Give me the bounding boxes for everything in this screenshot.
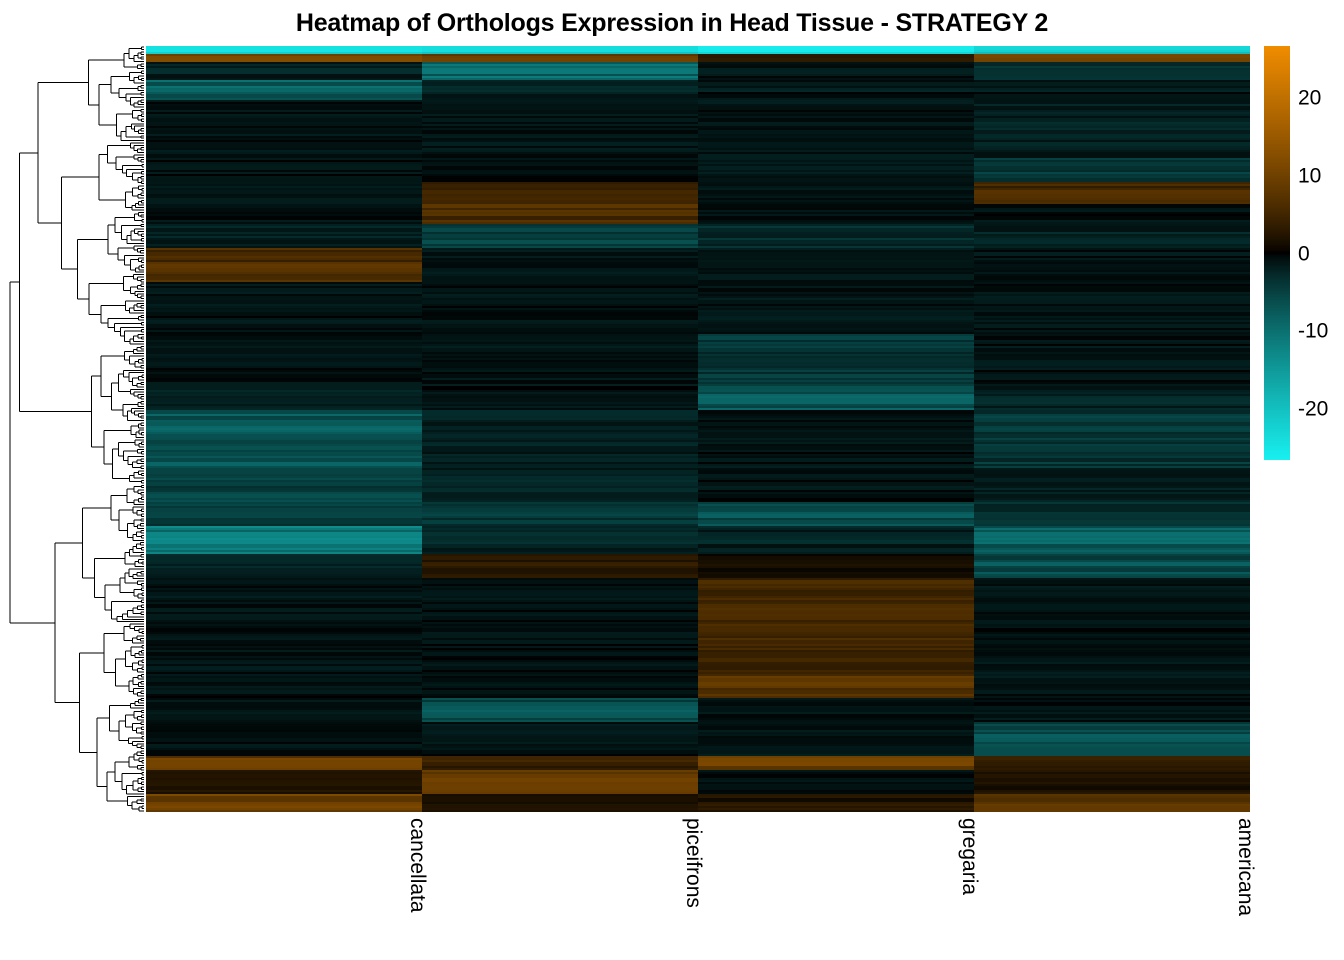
column-label-piceifrons: piceifrons xyxy=(683,818,704,908)
colorbar-tick-0: 0 xyxy=(1298,244,1310,265)
colorbar-tick-20: 20 xyxy=(1298,88,1321,109)
column-labels: cancellata piceifrons gregaria americana xyxy=(146,812,1250,960)
colorbar-gradient xyxy=(1264,46,1290,460)
heatmap-figure: Heatmap of Orthologs Expression in Head … xyxy=(0,0,1344,960)
colorbar-tick-10: 10 xyxy=(1298,166,1321,187)
column-label-americana: americana xyxy=(1235,818,1256,916)
colorbar-tick-n10: -10 xyxy=(1298,321,1328,342)
colorbar-tick-n20: -20 xyxy=(1298,399,1328,420)
row-dendrogram xyxy=(0,46,146,812)
colorbar xyxy=(1264,46,1290,460)
column-label-cancellata: cancellata xyxy=(407,818,428,913)
heatmap-canvas xyxy=(146,46,1250,812)
dendrogram-svg xyxy=(0,46,146,812)
column-label-gregaria: gregaria xyxy=(959,818,980,895)
page-title: Heatmap of Orthologs Expression in Head … xyxy=(0,0,1344,46)
heatmap-body xyxy=(146,46,1250,812)
